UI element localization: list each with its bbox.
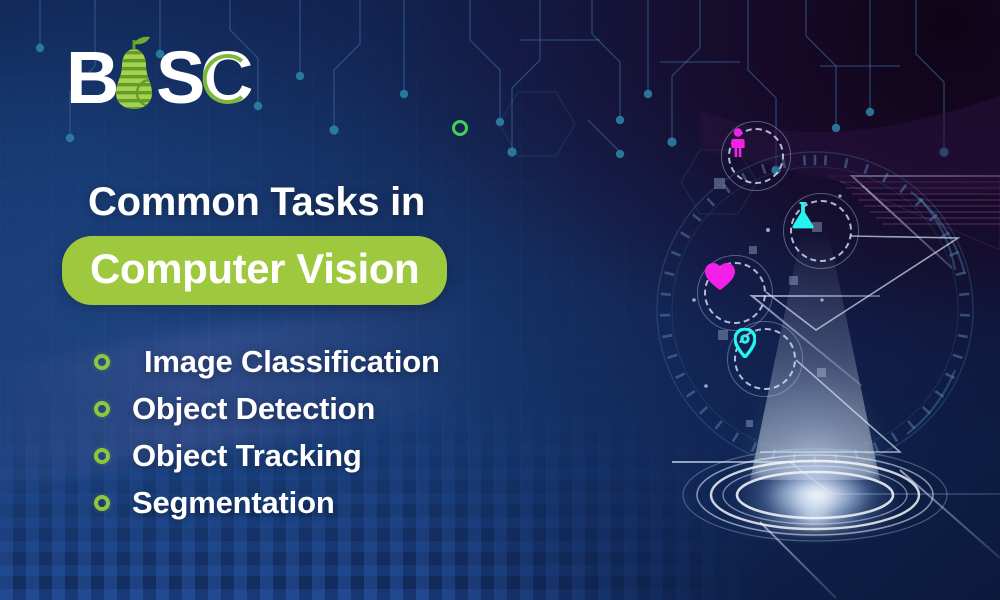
list-item-label: Object Tracking [132, 440, 362, 471]
list-item[interactable]: Segmentation [94, 479, 440, 526]
computer-vision-banner: B S C [0, 0, 1000, 600]
page-title: Common Tasks in [88, 182, 425, 222]
bullet-ring-icon [94, 495, 110, 511]
badge-location[interactable] [734, 328, 796, 390]
bullet-ring-icon [94, 401, 110, 417]
person-icon [728, 128, 784, 184]
list-item[interactable]: Image Classification [94, 338, 440, 385]
list-item[interactable]: Object Tracking [94, 432, 440, 479]
bullet-ring-icon [94, 448, 110, 464]
badge-connector-lines [600, 60, 1000, 600]
list-item-label: Image Classification [144, 346, 440, 377]
list-item-label: Segmentation [132, 487, 335, 518]
heart-icon [704, 262, 766, 324]
svg-text:C: C [200, 36, 253, 111]
flask-icon [790, 200, 852, 262]
bullet-ring-icon [94, 354, 110, 370]
location-pin-icon [734, 328, 796, 390]
badge-person[interactable] [728, 128, 784, 184]
svg-text:B: B [66, 36, 119, 111]
svg-text:S: S [156, 36, 205, 111]
logo[interactable]: B S C [66, 38, 266, 108]
headline-highlight-text: Computer Vision [90, 248, 419, 290]
task-list: Image Classification Object Detection Ob… [94, 338, 440, 526]
badge-heart[interactable] [704, 262, 766, 324]
list-item-label: Object Detection [132, 393, 375, 424]
list-item[interactable]: Object Detection [94, 385, 440, 432]
green-node-icon [454, 122, 467, 135]
bosc-logo-icon: B S C [66, 35, 266, 111]
badge-flask[interactable] [790, 200, 852, 262]
headline-highlight-pill: Computer Vision [62, 236, 447, 305]
hologram-illustration [600, 60, 1000, 600]
